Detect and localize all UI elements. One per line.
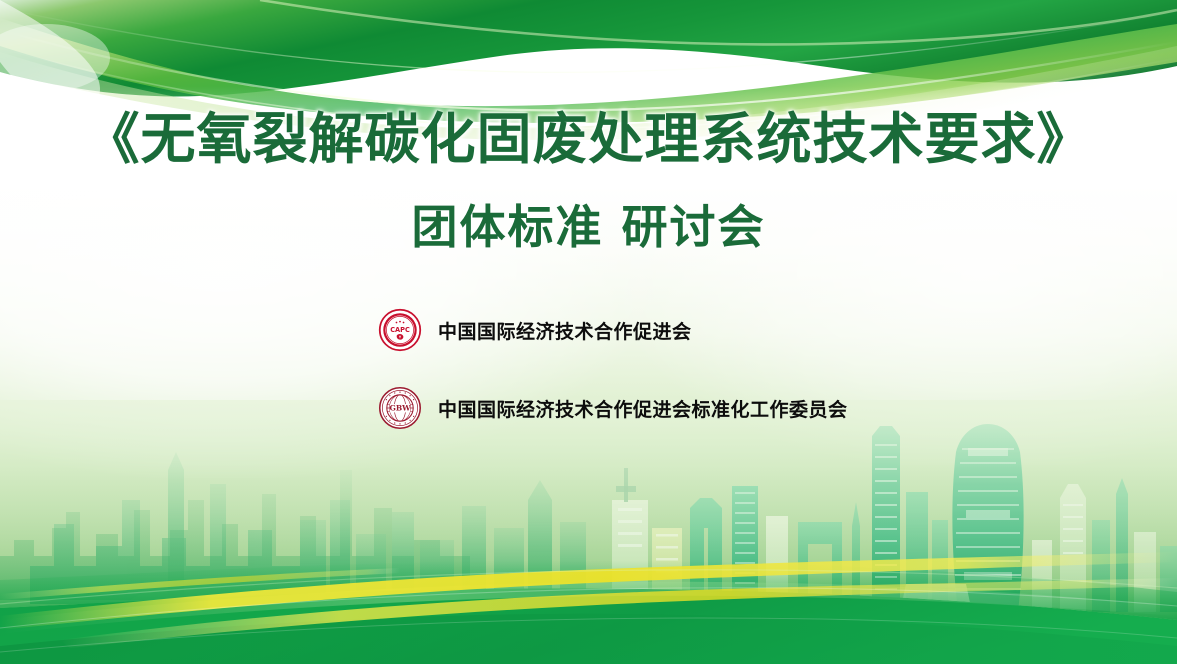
organization-label-gbw: 中国国际经济技术合作促进会标准化工作委员会 <box>438 395 848 422</box>
capc-seal-icon: CAPC <box>378 308 422 352</box>
presentation-title-slide: 《无氧裂解碳化固废处理系统技术要求》 团体标准 研讨会 <box>0 0 1177 664</box>
svg-text:GBW: GBW <box>389 404 411 413</box>
slide-content: 《无氧裂解碳化固废处理系统技术要求》 团体标准 研讨会 <box>0 0 1177 664</box>
organization-row-gbw: GBW <box>378 383 1138 433</box>
organization-label-capc: 中国国际经济技术合作促进会 <box>438 317 692 344</box>
page-subtitle: 团体标准 研讨会 <box>0 204 1177 250</box>
svg-text:CAPC: CAPC <box>390 326 410 334</box>
gbw-seal-icon: GBW <box>378 386 422 430</box>
page-title: 《无氧裂解碳化固废处理系统技术要求》 <box>0 112 1177 167</box>
organization-list: CAPC 中国国际经济技术合作促进会 <box>378 305 1138 433</box>
organization-row-capc: CAPC 中国国际经济技术合作促进会 <box>378 305 1138 355</box>
